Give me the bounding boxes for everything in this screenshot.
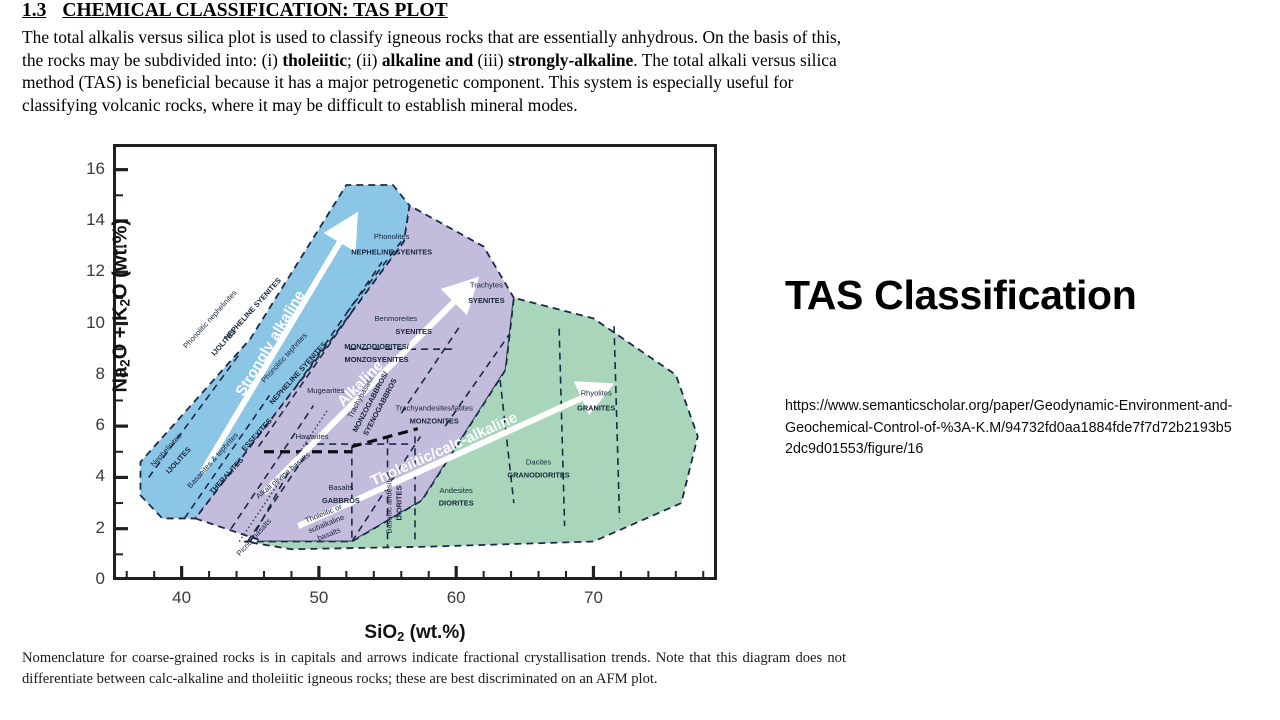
- field-label: Trachyandesites/latites: [396, 404, 474, 413]
- field-label: DIORITES: [439, 499, 474, 508]
- field-label: SYENITES: [468, 296, 505, 305]
- field-label: GRANODIORITES: [507, 470, 569, 479]
- field-label: DIORITES: [394, 486, 403, 521]
- y-tick-label: 16: [75, 159, 105, 179]
- x-tick-label: 50: [294, 588, 344, 608]
- slide-title: TAS Classification: [785, 272, 1245, 319]
- field-label: Rhyolites: [581, 388, 612, 397]
- y-tick-label: 2: [75, 518, 105, 538]
- field-label: Trachytes: [470, 281, 503, 290]
- figure-caption: Nomenclature for coarse-grained rocks is…: [22, 648, 846, 689]
- field-label: Dacites: [526, 458, 552, 467]
- source-url-link[interactable]: https://www.semanticscholar.org/paper/Ge…: [785, 396, 1235, 461]
- field-label: GRANITES: [577, 404, 615, 413]
- y-tick-label: 8: [75, 364, 105, 384]
- field-label: MONZONITES: [410, 417, 459, 426]
- right-panel: TAS Classification https://www.semantics…: [785, 0, 1255, 720]
- section-title: CHEMICAL CLASSIFICATION: TAS PLOT: [62, 0, 447, 21]
- field-label: Phonolites: [374, 232, 410, 241]
- x-tick-label: 60: [431, 588, 481, 608]
- y-tick-label: 0: [75, 569, 105, 589]
- y-tick-label: 14: [75, 210, 105, 230]
- field-label: GABBROS: [322, 496, 360, 505]
- y-tick-label: 12: [75, 261, 105, 281]
- y-tick-label: 10: [75, 313, 105, 333]
- field-label: Andesites: [440, 486, 474, 495]
- x-tick-label: 40: [157, 588, 207, 608]
- field-label: NEPHELINE SYENITES: [351, 247, 432, 256]
- y-axis-label: Na2O + K2O (wt.%): [109, 206, 132, 406]
- intro-paragraph: The total alkalis versus silica plot is …: [22, 26, 850, 116]
- field-label: Hawaiites: [296, 432, 329, 441]
- y-tick-label: 6: [75, 415, 105, 435]
- field-label: Benmoreites: [374, 314, 417, 323]
- page-title: 1.3CHEMICAL CLASSIFICATION: TAS PLOT: [22, 0, 562, 22]
- field-label: MONZODIORITES/: [344, 342, 408, 351]
- y-tick-label: 4: [75, 466, 105, 486]
- field-label: SYENITES: [395, 327, 432, 336]
- document-body: 1.3CHEMICAL CLASSIFICATION: TAS PLOT The…: [0, 0, 870, 720]
- section-number: 1.3: [22, 0, 46, 22]
- tas-plot-figure: NephelinitesIJOLITESBasanites & tephrite…: [113, 144, 717, 580]
- x-axis-label: SiO2 (wt.%): [255, 622, 575, 644]
- x-tick-label: 70: [568, 588, 618, 608]
- field-label: Basalts: [328, 483, 353, 492]
- tas-chart-svg: NephelinitesIJOLITESBasanites & tephrite…: [113, 144, 717, 580]
